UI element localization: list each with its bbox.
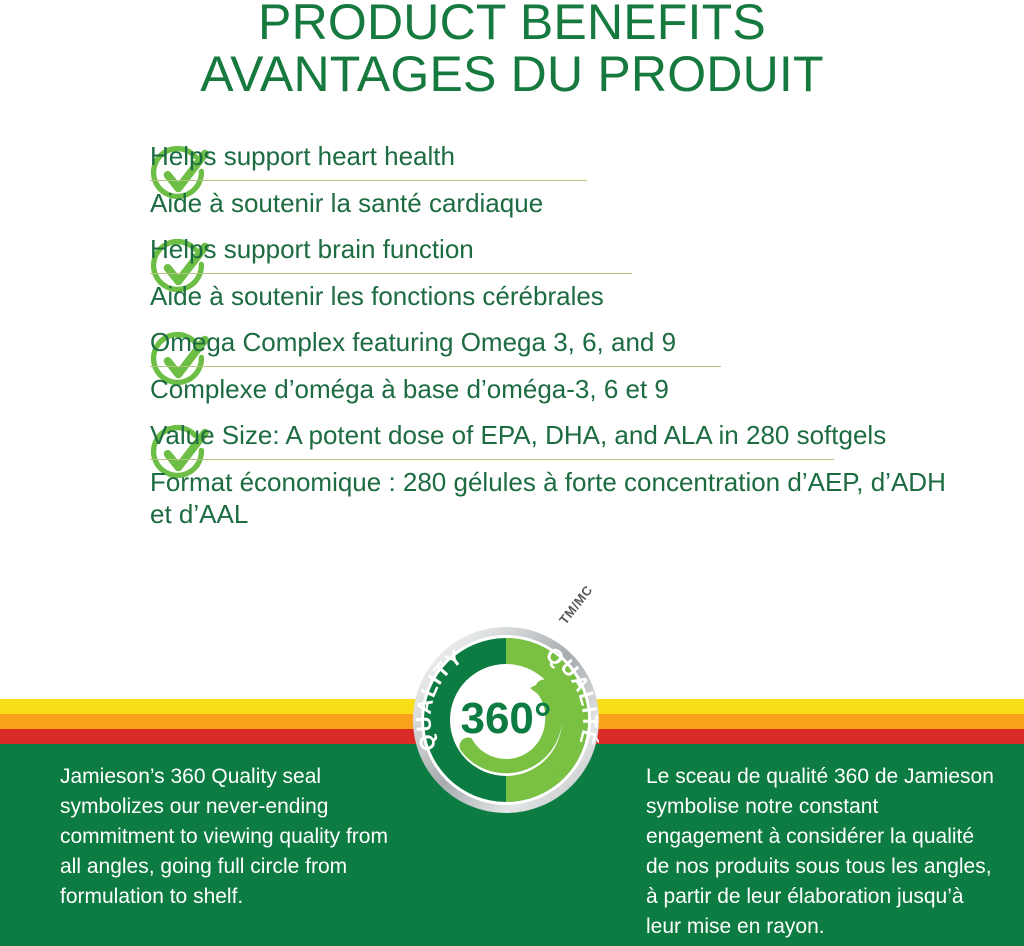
benefit-text-group: Helps support brain function Aide à sout… [150,233,1024,312]
benefit-item: Helps support heart health Aide à souten… [0,140,1024,219]
check-circle-icon [0,140,150,206]
benefit-text-group: Helps support heart health Aide à souten… [150,140,1024,219]
page-title-fr: AVANTAGES DU PRODUIT [0,48,1024,100]
check-circle-icon [0,326,150,392]
benefit-text-en: Value Size: A potent dose of EPA, DHA, a… [150,419,964,456]
footer-text-en: Jamieson’s 360 Quality seal symbolizes o… [60,762,400,912]
benefit-item: Value Size: A potent dose of EPA, DHA, a… [0,419,1024,530]
benefit-text-fr: Aide à soutenir les fonctions cérébrales [150,280,964,312]
benefit-text-en: Helps support brain function [150,233,964,270]
page-title: PRODUCT BENEFITS AVANTAGES DU PRODUIT [0,0,1024,100]
benefit-text-en: Helps support heart health [150,140,964,177]
check-circle-icon [0,419,150,485]
benefit-text-fr: Complexe d’oméga à base d’oméga-3, 6 et … [150,373,964,405]
benefit-text-group: Value Size: A potent dose of EPA, DHA, a… [150,419,1024,530]
benefits-list: Helps support heart health Aide à souten… [0,140,1024,536]
benefit-text-en: Omega Complex featuring Omega 3, 6, and … [150,326,964,363]
footer-text-fr: Le sceau de qualité 360 de Jamieson symb… [646,762,996,942]
benefit-text-group: Omega Complex featuring Omega 3, 6, and … [150,326,1024,405]
benefit-text-fr: Format économique : 280 gélules à forte … [150,466,964,530]
page-title-en: PRODUCT BENEFITS [0,0,1024,48]
benefit-text-fr: Aide à soutenir la santé cardiaque [150,187,964,219]
check-circle-icon [0,233,150,299]
benefit-divider [150,366,721,367]
trademark-mark: TM/MC [556,582,596,627]
benefit-divider [150,273,632,274]
quality-360-seal-icon: QUALITY QUALITÉ 360° [412,626,600,814]
benefit-item: Omega Complex featuring Omega 3, 6, and … [0,326,1024,405]
benefit-divider [150,180,587,181]
benefit-divider [150,459,834,460]
seal-center-text: 360° [460,694,551,743]
benefit-item: Helps support brain function Aide à sout… [0,233,1024,312]
